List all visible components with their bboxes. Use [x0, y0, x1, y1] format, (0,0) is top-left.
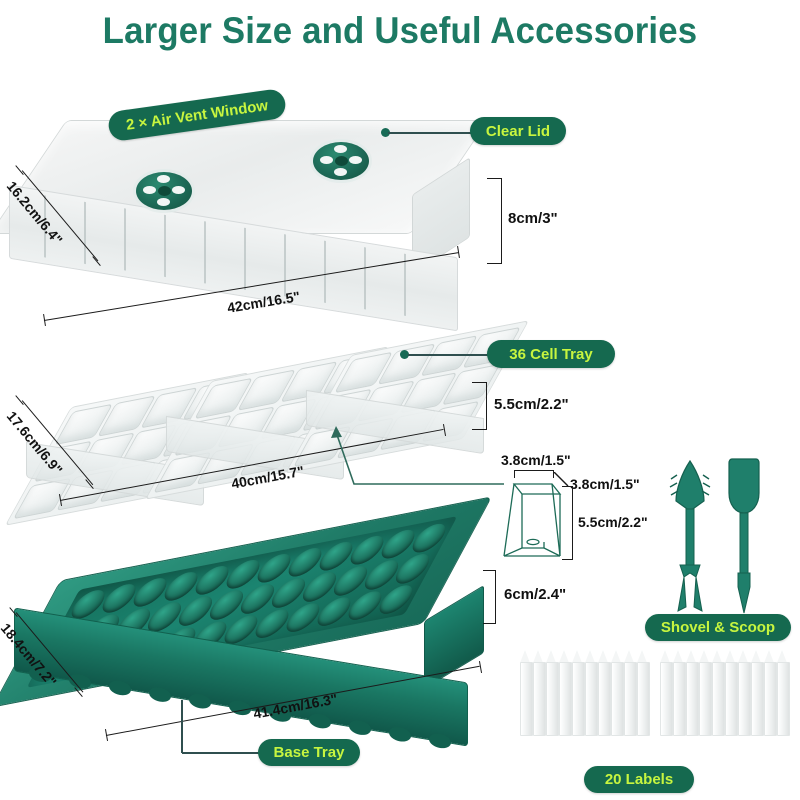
leader-line-single-cell: [330, 424, 506, 486]
plant-label-stake-icon: [637, 650, 648, 734]
callout-base-tray[interactable]: Base Tray: [258, 739, 360, 766]
plant-label-stake-icon: [585, 650, 596, 734]
plant-label-stake-icon: [572, 650, 583, 734]
plant-label-stake-icon: [598, 650, 609, 734]
dimension-cell-top-depth: 3.8cm/1.5": [570, 476, 640, 492]
plant-label-stake-icon: [764, 650, 775, 734]
plant-labels-illustration: [512, 650, 792, 760]
callout-36-cell-tray[interactable]: 36 Cell Tray: [487, 340, 615, 368]
infographic-canvas: Larger Size and Useful Accessories: [0, 0, 800, 800]
leader-line-clear-lid: [388, 132, 476, 134]
air-vent-knob-icon: [136, 172, 192, 210]
clear-lid-illustration: [8, 120, 508, 320]
page-title: Larger Size and Useful Accessories: [24, 10, 776, 52]
plant-label-stake-icon: [611, 650, 622, 734]
arrow-to-cell-icon: [330, 424, 506, 486]
air-vent-knob-icon: [313, 142, 369, 180]
plant-label-stake-icon: [624, 650, 635, 734]
plant-label-stake-icon: [777, 650, 788, 734]
shovel-icon: [670, 461, 710, 611]
leader-line-base-tray: [182, 752, 262, 754]
plant-label-stake-icon: [660, 650, 671, 734]
callout-20-labels[interactable]: 20 Labels: [584, 766, 694, 793]
label-stake-group: [520, 650, 648, 734]
shovel-and-scoop-illustration: [660, 455, 780, 625]
leader-elbow-base-tray: [181, 700, 183, 753]
leader-line-cell-tray: [408, 354, 490, 356]
label-stake-group: [660, 650, 788, 734]
plant-label-stake-icon: [559, 650, 570, 734]
plant-label-stake-icon: [699, 650, 710, 734]
plant-label-stake-icon: [533, 650, 544, 734]
plant-label-stake-icon: [738, 650, 749, 734]
dimension-cell-top-width: 3.8cm/1.5": [501, 452, 571, 468]
callout-shovel-and-scoop[interactable]: Shovel & Scoop: [645, 614, 791, 641]
scoop-icon: [729, 459, 759, 613]
plant-label-stake-icon: [546, 650, 557, 734]
plant-label-stake-icon: [673, 650, 684, 734]
plant-label-stake-icon: [712, 650, 723, 734]
plant-label-stake-icon: [751, 650, 762, 734]
bracket-cell-height: [562, 486, 573, 560]
dimension-cell-height: 5.5cm/2.2": [578, 514, 648, 530]
callout-clear-lid[interactable]: Clear Lid: [470, 117, 566, 145]
plant-label-stake-icon: [686, 650, 697, 734]
tools-icon: [660, 455, 780, 625]
plant-label-stake-icon: [725, 650, 736, 734]
bracket-cell-top-width: [514, 470, 554, 478]
plant-label-stake-icon: [520, 650, 531, 734]
